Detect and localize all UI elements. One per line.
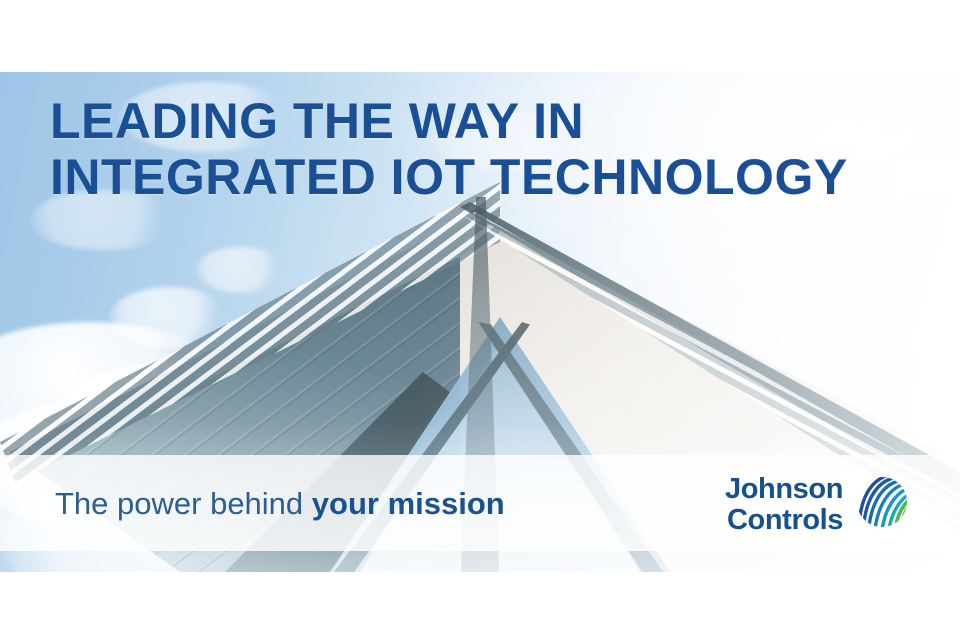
johnson-controls-logo: Johnson Controls [725, 472, 912, 537]
logo-word-controls: Controls [727, 505, 843, 535]
tagline-prefix: The power behind [55, 486, 312, 521]
logo-word-johnson: Johnson [725, 474, 843, 504]
tagline-emphasis: your mission [312, 486, 505, 521]
logo-wordmark: Johnson Controls [725, 474, 843, 535]
johnson-controls-swirl-icon [852, 472, 912, 537]
tagline: The power behind your mission [55, 487, 505, 521]
banner-canvas: LEADING THE WAY IN INTEGRATED IOT TECHNO… [0, 0, 960, 640]
headline-line-1: LEADING THE WAY IN [50, 96, 848, 146]
banner-photograph: LEADING THE WAY IN INTEGRATED IOT TECHNO… [0, 72, 960, 572]
headline-line-2: INTEGRATED IOT TECHNOLOGY [50, 152, 848, 202]
headline: LEADING THE WAY IN INTEGRATED IOT TECHNO… [50, 96, 848, 202]
